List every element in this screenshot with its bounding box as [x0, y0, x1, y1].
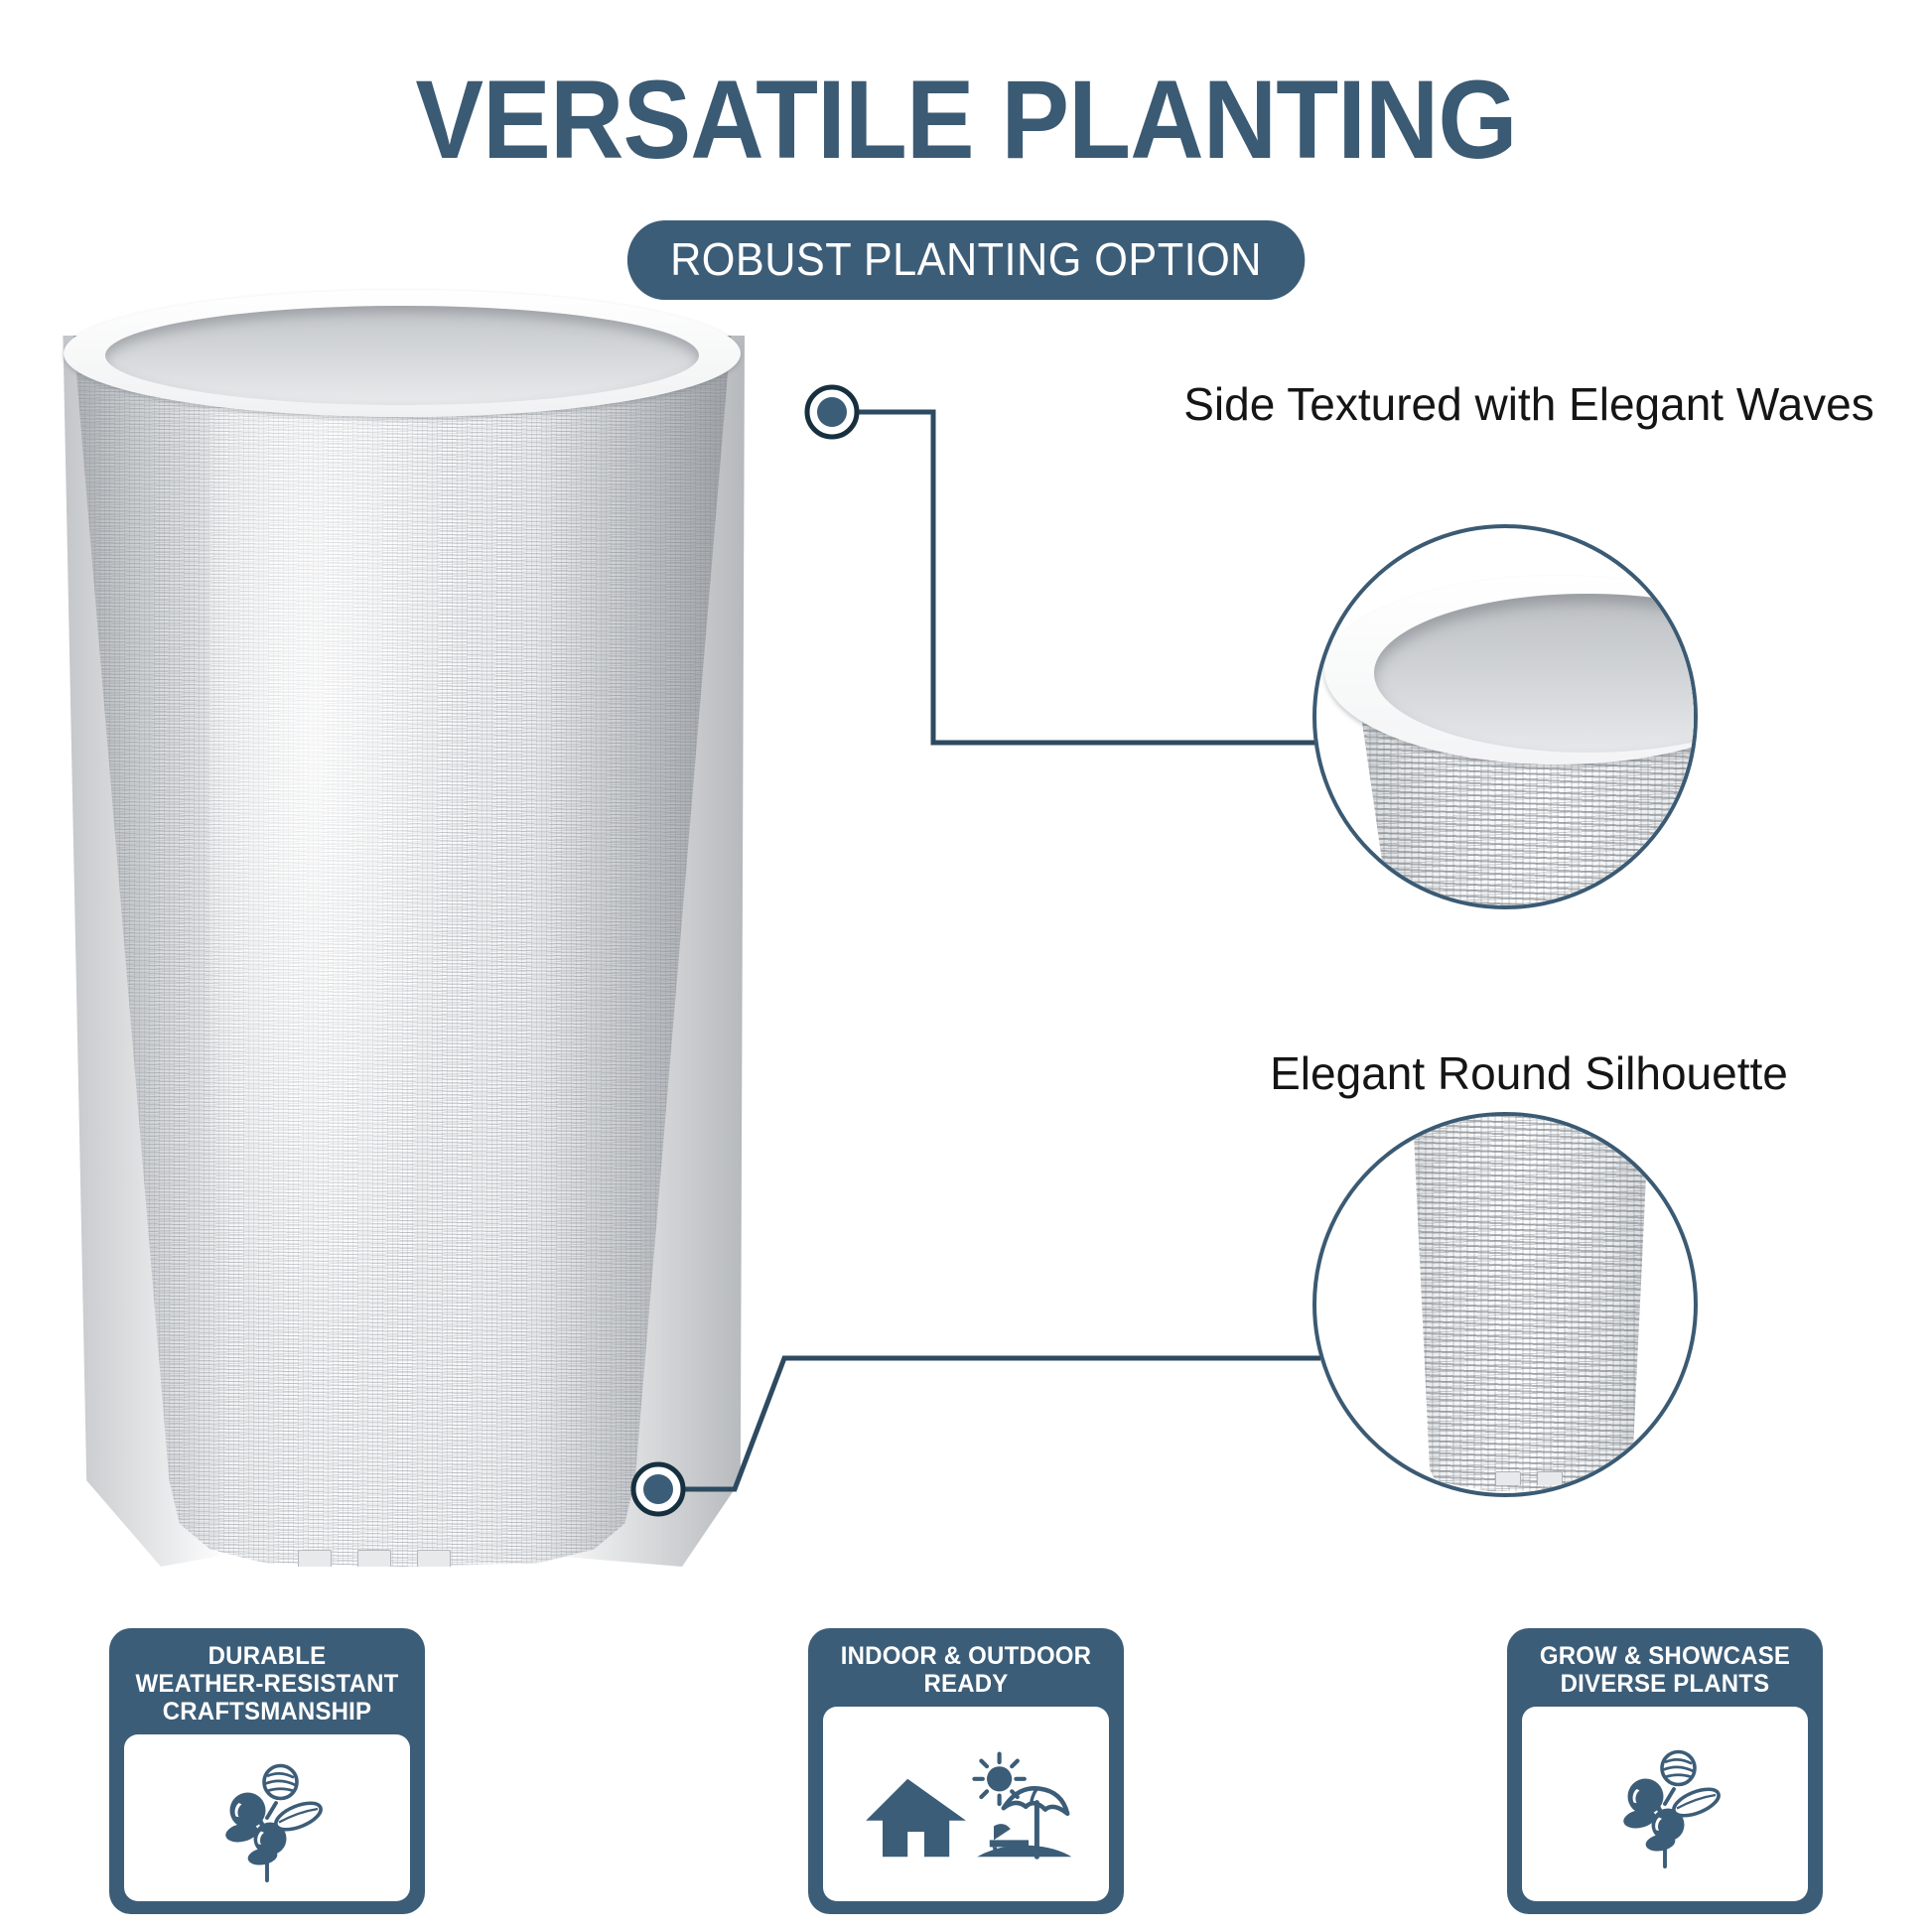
- planter-drain-notch: [417, 1550, 451, 1567]
- callout-line-bottom: [667, 1358, 1320, 1489]
- feature-card-title: GROW & SHOWCASE DIVERSE PLANTS: [1513, 1628, 1816, 1698]
- detail-circle-side-texture: [1312, 524, 1698, 909]
- feature-card-grow-showcase[interactable]: GROW & SHOWCASE DIVERSE PLANTS: [1507, 1628, 1823, 1914]
- detail-circle-round-silhouette: [1312, 1112, 1698, 1497]
- feature-card-icon-box: [124, 1734, 410, 1901]
- feature-card-indoor-outdoor[interactable]: INDOOR & OUTDOOR READY: [808, 1628, 1124, 1914]
- callout-label-side-texture: Side Textured with Elegant Waves: [1181, 375, 1876, 435]
- feature-card-row: DURABLE WEATHER-RESISTANT CRAFTSMANSHIP: [0, 1628, 1932, 1926]
- planter-body: [60, 336, 745, 1567]
- feature-card-durable[interactable]: DURABLE WEATHER-RESISTANT CRAFTSMANSHIP: [109, 1628, 425, 1914]
- house-icon: [866, 1779, 966, 1857]
- house-sun-beach-icon: [852, 1734, 1080, 1873]
- feature-card-icon-box: [823, 1707, 1109, 1901]
- detail-base-texture: [1376, 1112, 1674, 1493]
- detail-drain-notch: [1537, 1471, 1563, 1485]
- feature-card-title: INDOOR & OUTDOOR READY: [814, 1628, 1117, 1698]
- planter-drain-notch: [357, 1550, 391, 1567]
- callout-label-round-silhouette: Elegant Round Silhouette: [1181, 1044, 1876, 1104]
- infographic-page: VERSATILE PLANTING ROBUST PLANTING OPTIO…: [0, 0, 1932, 1932]
- feature-card-title: DURABLE WEATHER-RESISTANT CRAFTSMANSHIP: [115, 1628, 418, 1725]
- callout-line-top: [839, 412, 1320, 743]
- planter-drain-notch: [298, 1550, 332, 1567]
- berry-sprig-icon: [193, 1743, 342, 1892]
- product-image-planter: [60, 288, 745, 1569]
- detail-drain-notch: [1495, 1471, 1521, 1485]
- berry-sprig-icon: [1590, 1729, 1739, 1878]
- callout-dot-top: [807, 387, 857, 437]
- planter-rim-inner: [105, 306, 699, 405]
- page-title: VERSATILE PLANTING: [77, 62, 1855, 179]
- feature-card-icon-box: [1522, 1707, 1808, 1901]
